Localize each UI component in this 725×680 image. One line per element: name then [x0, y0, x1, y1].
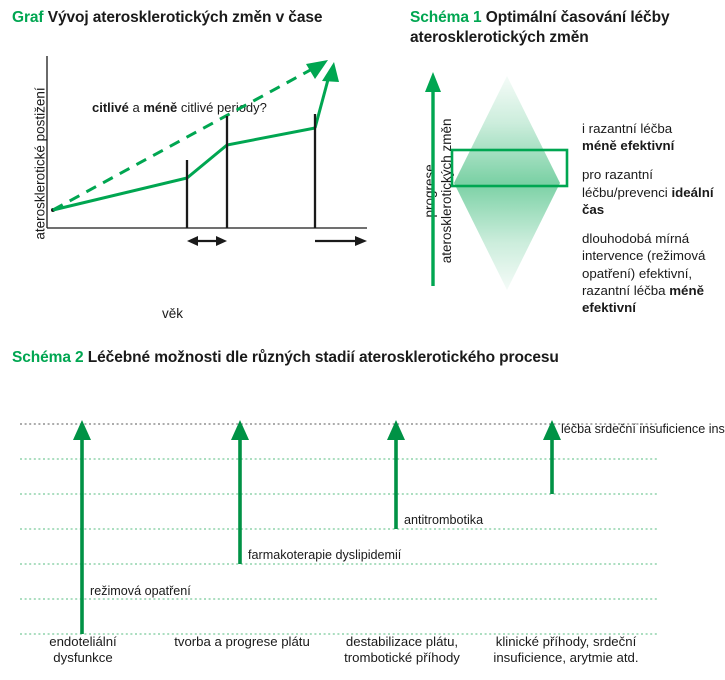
schema1-panel: Schéma 1 Optimální časování léčby ateros…	[410, 8, 715, 348]
schema2-arrow-3-head	[387, 420, 405, 440]
schema2-caption-2: farmakoterapie dyslipidemií	[248, 548, 401, 564]
graf-svg	[12, 38, 382, 328]
schema2-stage-label-3: destabilizace plátu, trombotické příhody	[332, 634, 472, 667]
graf-span-arrow-2-head	[355, 236, 367, 246]
graf-span-arrow-1-head-left	[187, 236, 198, 246]
graf-label: Graf	[12, 9, 43, 26]
schema1-body: progrese aterosklerotických změn	[410, 58, 715, 348]
schema2-caption-1: režimová opatření	[90, 584, 191, 600]
schema2-label: Schéma 2	[12, 349, 84, 366]
schema2-arrow-4-head	[543, 420, 561, 440]
schema2-title-text: Léčebné možnosti dle různých stadií ater…	[88, 349, 559, 366]
schema1-text-block-middle: pro razantní léčbu/prevenci ideální čas	[582, 166, 722, 218]
schema1-text-block-bottom: dlouhodobá mírná intervence (režimová op…	[582, 230, 722, 316]
schema2-panel: Schéma 2 Léčebné možnosti dle různých st…	[12, 348, 717, 680]
graf-plot-area: citlivé a méně citlivé periody? ateroskl…	[12, 38, 382, 328]
schema2-title: Schéma 2 Léčebné možnosti dle různých st…	[12, 348, 717, 368]
schema2-caption-3: antitrombotika	[404, 513, 483, 529]
schema1-axis-arrowhead	[425, 72, 441, 92]
schema2-arrow-2-head	[231, 420, 249, 440]
schema1-text-blocks: i razantní léčba méně efektivní pro raza…	[582, 120, 722, 329]
schema1-diamond-shape	[454, 76, 560, 290]
schema1-title: Schéma 1 Optimální časování léčby ateros…	[410, 8, 715, 48]
schema1-text-block-top: i razantní léčba méně efektivní	[582, 120, 722, 155]
graf-progression-solid	[53, 128, 315, 210]
graf-title-text: Vývoj aterosklerotických změn v čase	[48, 9, 323, 26]
schema2-stage-label-4: klinické příhody, srdeční insuficience, …	[490, 634, 642, 667]
schema2-caption-4: léčba srdeční insuficience instrumentáln…	[561, 422, 725, 438]
schema2-body: režimová opatření farmakoterapie dyslipi…	[12, 380, 717, 680]
graf-panel: Graf Vývoj aterosklerotických změn v čas…	[12, 8, 382, 328]
schema2-stage-label-2: tvorba a progrese plátu	[172, 634, 312, 651]
graf-title: Graf Vývoj aterosklerotických změn v čas…	[12, 8, 382, 28]
graf-trend-dashed	[53, 68, 314, 210]
schema1-label: Schéma 1	[410, 9, 482, 26]
schema1-text-top-bold: méně efektivní	[582, 138, 674, 153]
graf-span-arrow-1-head-right	[216, 236, 227, 246]
schema2-stage-label-1: endoteliální dysfunkce	[20, 634, 146, 667]
schema1-text-middle-normal: pro razantní léčbu/prevenci	[582, 167, 668, 199]
schema1-text-top-normal: i razantní léčba	[582, 121, 672, 136]
graf-progression-rise	[315, 76, 329, 128]
schema2-arrow-1-head	[73, 420, 91, 440]
